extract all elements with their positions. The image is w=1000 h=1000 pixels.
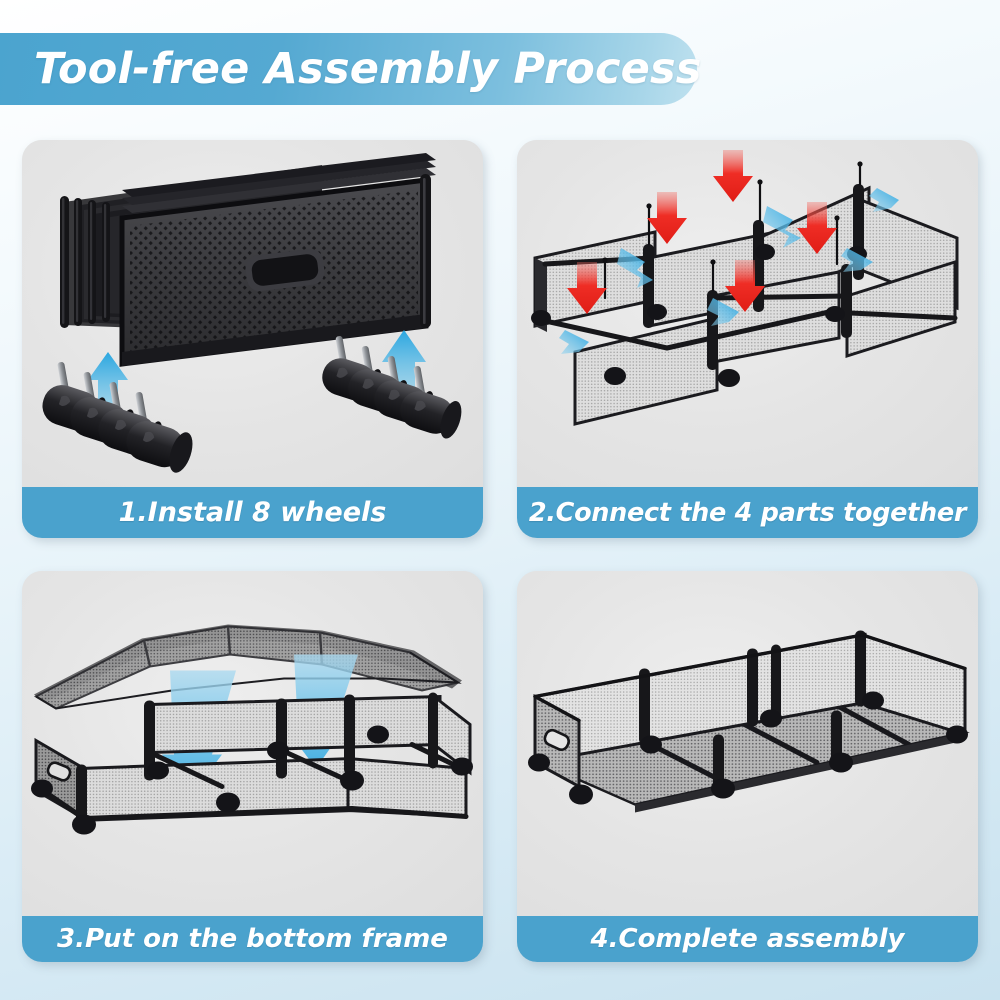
- assembled-side-frame: [31, 693, 473, 835]
- step-4-illustration: [517, 571, 978, 916]
- step-card-4[interactable]: 4.Complete assembly: [517, 571, 978, 962]
- title-banner: Tool-free Assembly Process: [0, 33, 697, 105]
- step-card-1[interactable]: 1.Install 8 wheels: [22, 140, 483, 538]
- step-3-caption: 3.Put on the bottom frame: [22, 916, 483, 962]
- bottom-frame-insert-graphic: [22, 571, 483, 916]
- step-1-caption: 1.Install 8 wheels: [22, 487, 483, 538]
- page-title: Tool-free Assembly Process: [34, 44, 702, 94]
- folded-panel-stack-and-wheels-graphic: [22, 140, 483, 487]
- step-4-caption: 4.Complete assembly: [517, 916, 978, 962]
- step-3-illustration: [22, 571, 483, 916]
- completed-cart: [528, 631, 968, 813]
- assembly-steps-grid: 1.Install 8 wheels: [22, 140, 978, 964]
- step-card-2[interactable]: 2.Connect the 4 parts together: [517, 140, 978, 538]
- step-1-illustration: [22, 140, 483, 487]
- folded-panel-stack: [60, 153, 436, 366]
- step-2-caption: 2.Connect the 4 parts together: [517, 487, 978, 538]
- step-card-3[interactable]: 3.Put on the bottom frame: [22, 571, 483, 962]
- folding-bottom-panel: [34, 625, 462, 709]
- connect-four-parts-graphic: [517, 140, 978, 487]
- completed-cart-graphic: [517, 571, 978, 916]
- step-2-illustration: [517, 140, 978, 487]
